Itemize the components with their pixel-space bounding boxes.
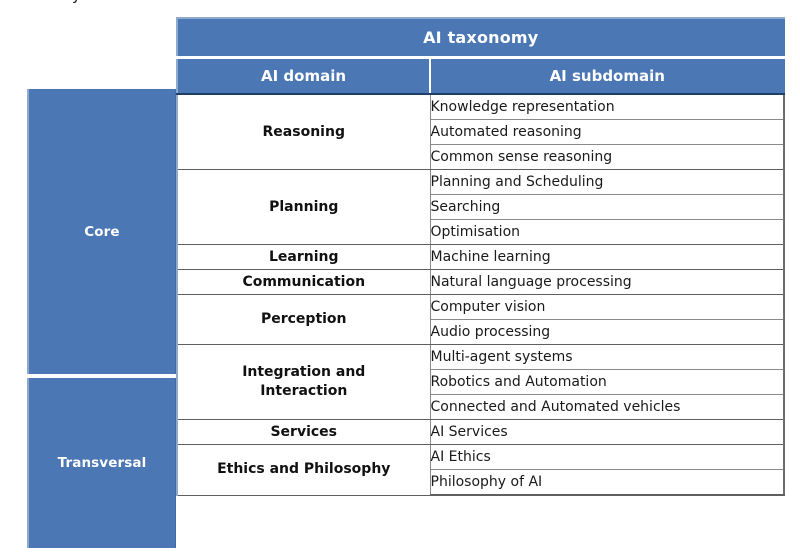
subdomain-cell: Automated reasoning <box>430 120 784 145</box>
subdomain-cell: Computer vision <box>430 295 784 320</box>
subdomain-cell: Multi-agent systems <box>430 345 784 370</box>
domain-cell-reasoning: Reasoning <box>177 94 430 170</box>
table-title-cell: AI taxonomy <box>177 18 784 58</box>
subdomain-cell: Philosophy of AI <box>430 470 784 496</box>
subdomain-cell: Audio processing <box>430 320 784 345</box>
domain-label-line-1: Integration and <box>242 364 365 380</box>
ai-taxonomy-table: AI taxonomy AI domain AI subdomain Reaso… <box>176 17 785 496</box>
table-row: Learning Machine learning <box>177 245 784 270</box>
subdomain-cell: Robotics and Automation <box>430 370 784 395</box>
table-header-columns-row: AI domain AI subdomain <box>177 58 784 95</box>
domain-cell-ethics-and-philosophy: Ethics and Philosophy <box>177 445 430 496</box>
subdomain-cell: Planning and Scheduling <box>430 170 784 195</box>
category-cell-transversal: Transversal <box>27 378 176 548</box>
subdomain-cell: Natural language processing <box>430 270 784 295</box>
subdomain-cell: AI Services <box>430 420 784 445</box>
table-row: Reasoning Knowledge representation <box>177 94 784 120</box>
subdomain-cell: Optimisation <box>430 220 784 245</box>
table-row: Integration and Interaction Multi-agent … <box>177 345 784 370</box>
domain-label-line-2: Interaction <box>260 383 347 399</box>
table-row: Perception Computer vision <box>177 295 784 320</box>
category-column: Core Transversal <box>27 89 176 548</box>
subdomain-cell: Searching <box>430 195 784 220</box>
subdomain-cell: Machine learning <box>430 245 784 270</box>
subdomain-cell: Common sense reasoning <box>430 145 784 170</box>
category-label-core: Core <box>84 224 119 240</box>
category-cell-core: Core <box>27 89 176 374</box>
table-header-title-row: AI taxonomy <box>177 18 784 58</box>
domain-cell-planning: Planning <box>177 170 430 245</box>
table-row: Planning Planning and Scheduling <box>177 170 784 195</box>
category-label-transversal: Transversal <box>58 455 147 471</box>
taxonomy-figure: y Core Transversal AI taxonomy AI domain… <box>0 0 800 559</box>
table-row: Ethics and Philosophy AI Ethics <box>177 445 784 470</box>
column-header-subdomain: AI subdomain <box>430 58 784 95</box>
domain-cell-integration-and-interaction: Integration and Interaction <box>177 345 430 420</box>
domain-cell-learning: Learning <box>177 245 430 270</box>
subdomain-cell: AI Ethics <box>430 445 784 470</box>
table-row: Services AI Services <box>177 420 784 445</box>
domain-cell-perception: Perception <box>177 295 430 345</box>
subdomain-cell: Knowledge representation <box>430 94 784 120</box>
subdomain-cell: Connected and Automated vehicles <box>430 395 784 420</box>
table-row: Communication Natural language processin… <box>177 270 784 295</box>
domain-cell-communication: Communication <box>177 270 430 295</box>
column-header-domain: AI domain <box>177 58 430 95</box>
domain-cell-services: Services <box>177 420 430 445</box>
clipped-text-fragment: y <box>72 0 94 4</box>
